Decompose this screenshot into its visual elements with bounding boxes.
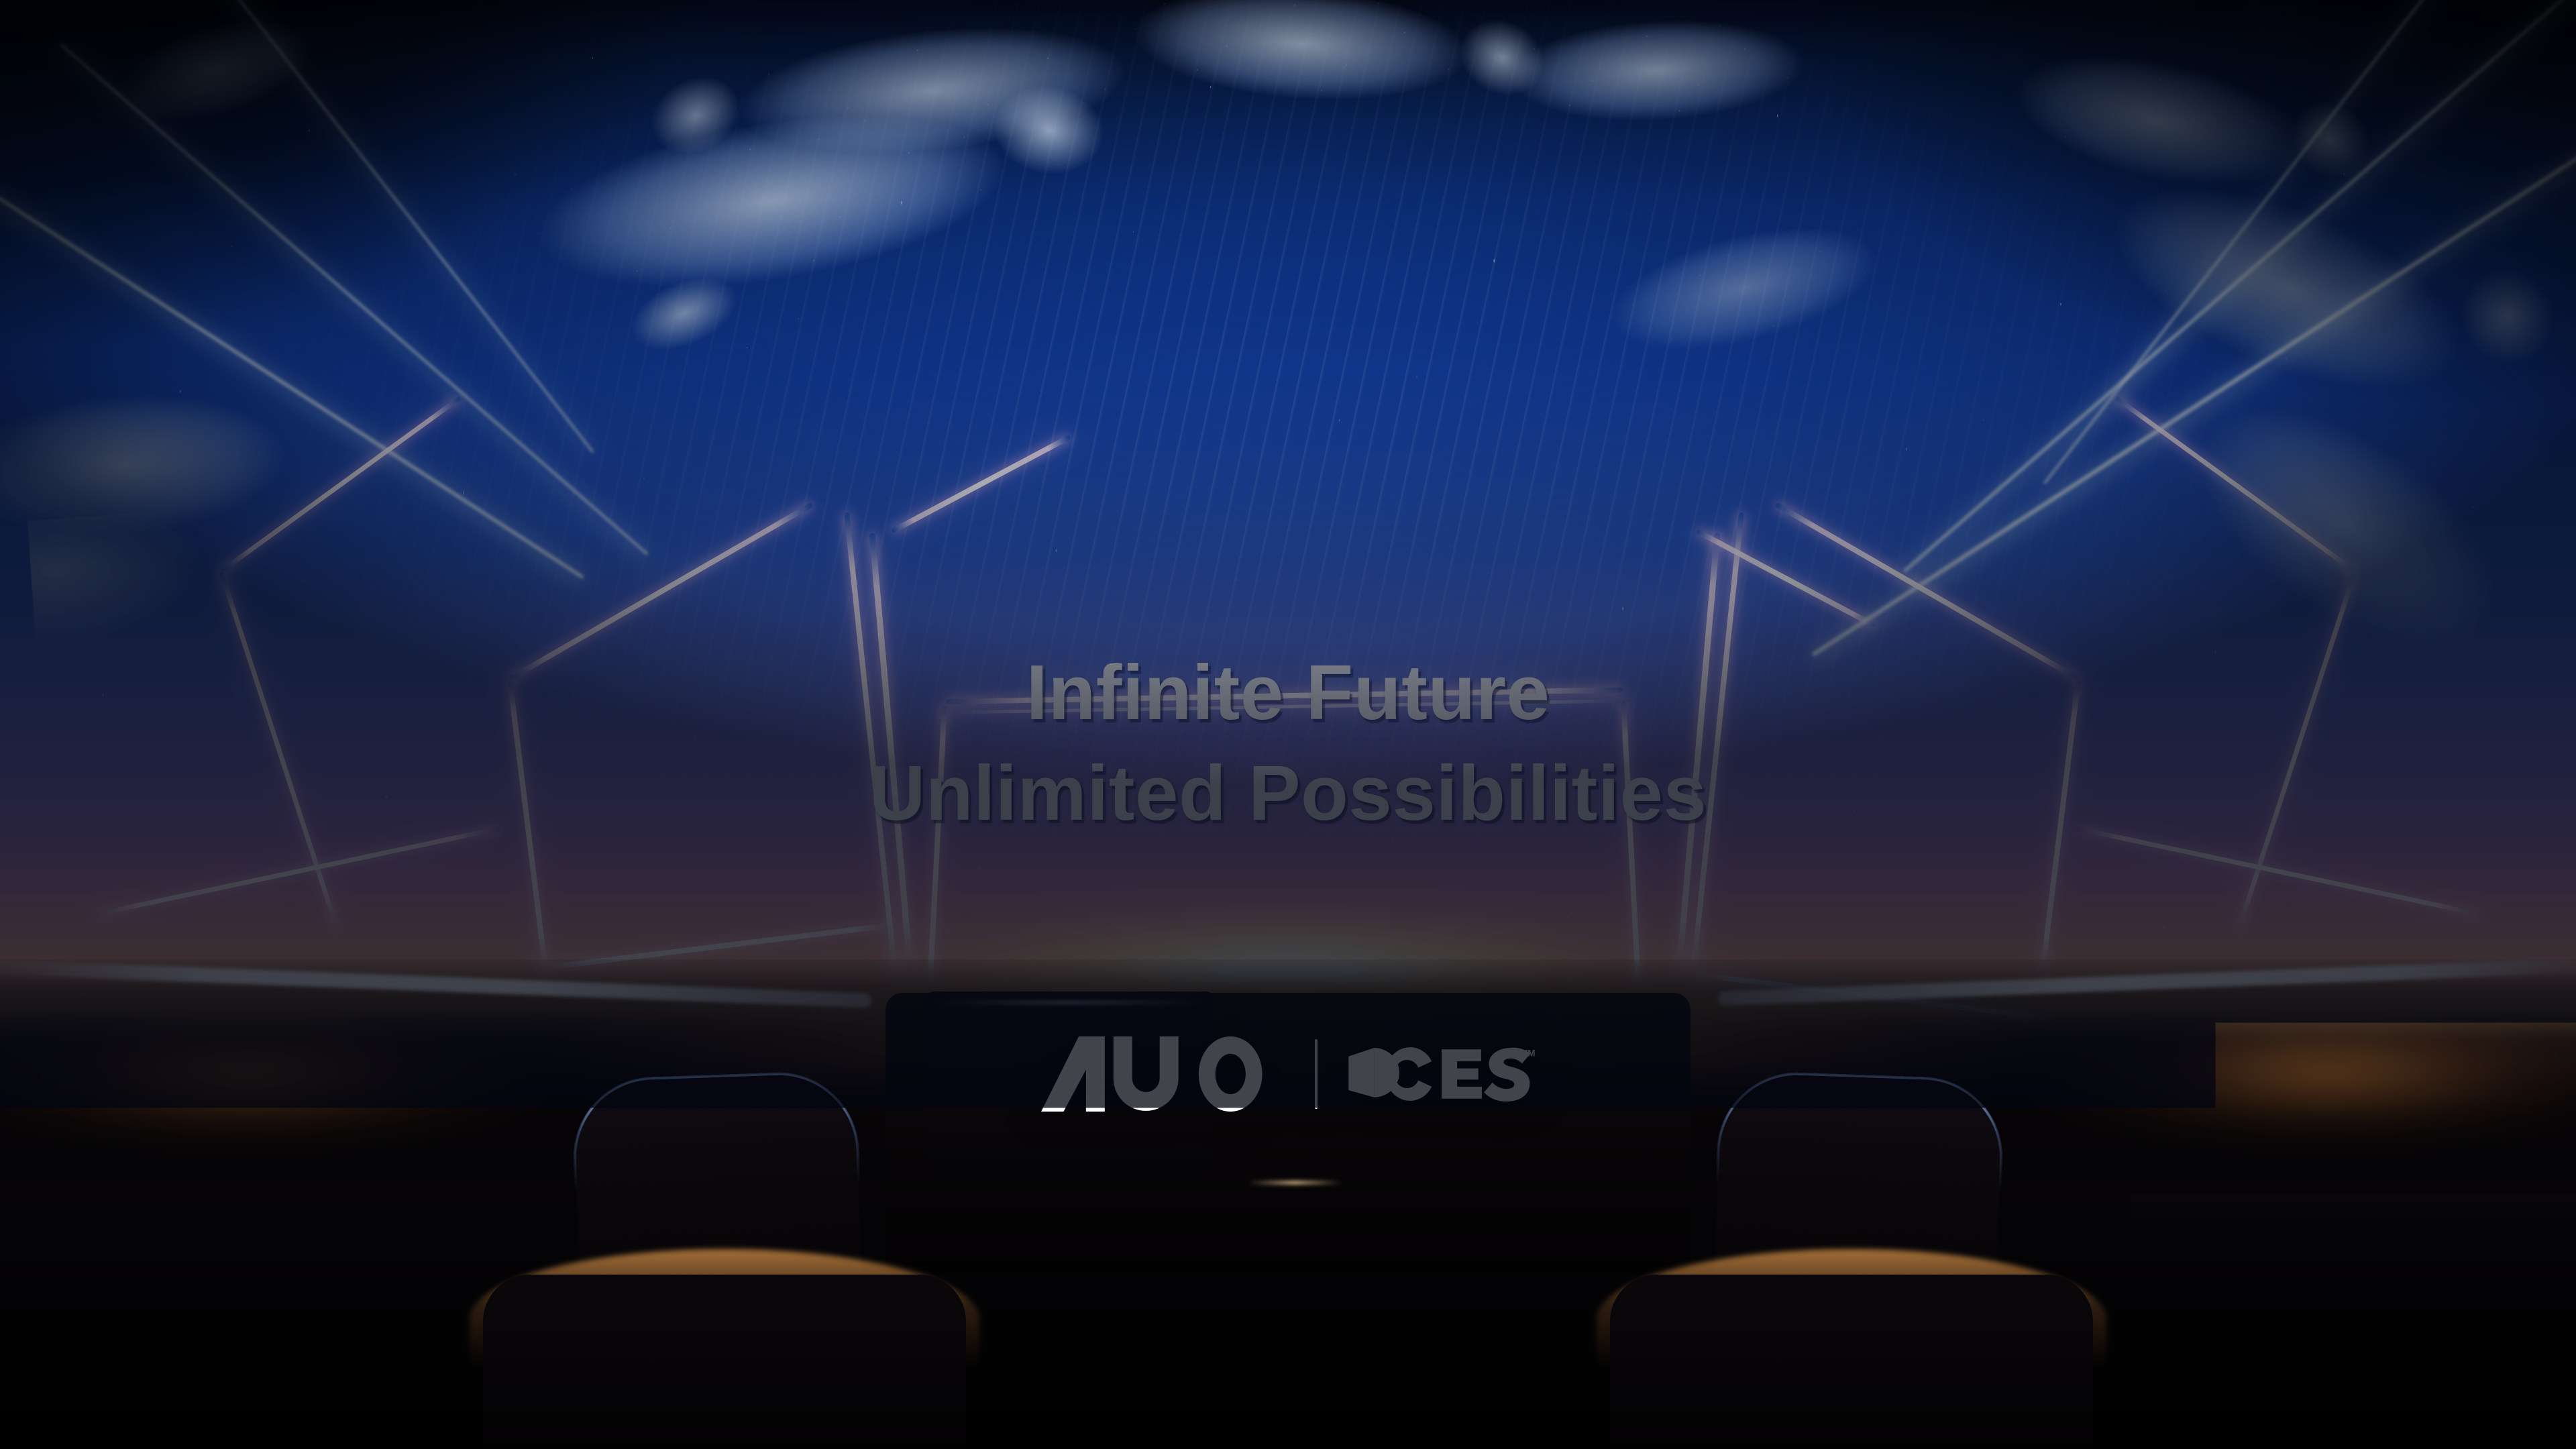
- center-console-accent-light: [1248, 1181, 1342, 1185]
- ces-logo: CES TM: [1346, 1046, 1535, 1102]
- whale-constellation-right: [1466, 0, 1847, 144]
- auo-logo: AUO: [1041, 1036, 1287, 1112]
- whale-particles: [1544, 172, 1944, 404]
- headline-line-2: Unlimited Possibilities: [0, 743, 2576, 844]
- page-title: Infinite Future Unlimited Possibilities: [0, 541, 2576, 945]
- headline-line-1: Infinite Future: [1026, 649, 1550, 736]
- event-details: LVCC - West Hall, Booth # 4400 January 7…: [0, 1256, 2576, 1369]
- date-line: January 7-10, 2025: [0, 1312, 2576, 1368]
- steering-yoke-highlight: [934, 1001, 1205, 1004]
- fish-constellation-left-small: [76, 0, 353, 160]
- dashboard-amber-glow-right: [2026, 1006, 2576, 1140]
- logo-divider: [1315, 1039, 1318, 1109]
- whale-particles: [1451, 0, 1864, 150]
- whale-constellation-upper-mid: [1559, 181, 1930, 396]
- ces-trademark-symbol: TM: [1522, 1049, 1535, 1059]
- logo-lockup: AUO CES: [1041, 1036, 1535, 1112]
- venue-line: LVCC - West Hall, Booth # 4400: [1012, 1263, 1563, 1305]
- dashboard-amber-glow-left: [0, 1006, 550, 1140]
- key-visual-canvas: Infinite Future Unlimited Possibilities: [0, 0, 2576, 1449]
